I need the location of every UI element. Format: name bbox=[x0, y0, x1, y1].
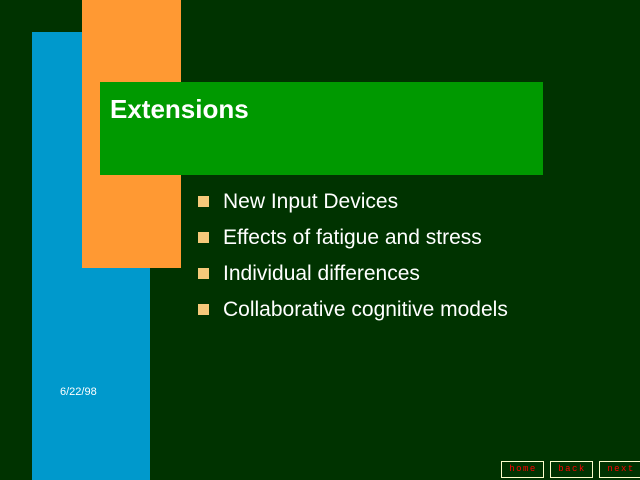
list-item: Individual differences bbox=[198, 258, 628, 294]
list-item-label: Individual differences bbox=[223, 258, 420, 289]
home-button[interactable]: home bbox=[501, 461, 544, 478]
square-bullet-icon bbox=[198, 268, 209, 279]
list-item: Collaborative cognitive models bbox=[198, 294, 628, 330]
back-button[interactable]: back bbox=[550, 461, 593, 478]
square-bullet-icon bbox=[198, 304, 209, 315]
list-item: New Input Devices bbox=[198, 186, 628, 222]
square-bullet-icon bbox=[198, 196, 209, 207]
next-button[interactable]: next bbox=[599, 461, 640, 478]
navigation-bar: home back next bbox=[501, 461, 640, 478]
list-item-label: New Input Devices bbox=[223, 186, 398, 217]
list-item-label: Collaborative cognitive models bbox=[223, 294, 508, 325]
square-bullet-icon bbox=[198, 232, 209, 243]
presentation-slide: Extensions New Input Devices Effects of … bbox=[0, 0, 640, 480]
bullet-list: New Input Devices Effects of fatigue and… bbox=[198, 186, 628, 330]
list-item-label: Effects of fatigue and stress bbox=[223, 222, 482, 253]
slide-title: Extensions bbox=[110, 93, 249, 125]
slide-date: 6/22/98 bbox=[60, 386, 97, 398]
list-item: Effects of fatigue and stress bbox=[198, 222, 628, 258]
